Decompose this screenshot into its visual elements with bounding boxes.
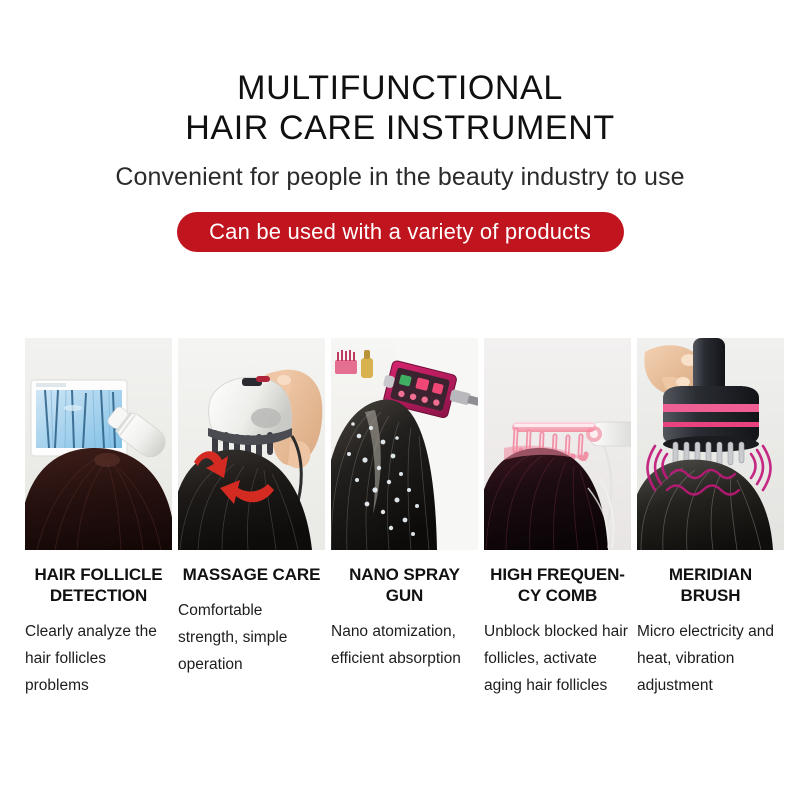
feature-description-nano-spray-gun: Nano atomization, efficient absorption	[331, 618, 478, 672]
feature-photo-meridian-brush	[637, 338, 784, 550]
feature-description-massage-care: Comfortable strength, simple operation	[178, 597, 325, 678]
feature-description-high-frequency-comb: Unblock blocked hair follicles, activate…	[484, 618, 631, 699]
feature-photo-high-frequency-comb	[484, 338, 631, 550]
feature-card-hair-follicle-detection: HAIR FOLLICLE DETECTION Clearly analyze …	[25, 338, 172, 699]
feature-card-nano-spray-gun: NANO SPRAY GUN Nano atomization, efficie…	[331, 338, 478, 699]
feature-title-meridian-brush: MERIDIAN BRUSH	[637, 564, 784, 606]
header: MULTIFUNCTIONAL HAIR CARE INSTRUMENT Con…	[0, 0, 800, 252]
compatibility-badge: Can be used with a variety of products	[177, 212, 624, 252]
feature-description-hair-follicle-detection: Clearly analyze the hair follicles probl…	[25, 618, 172, 699]
badge-row: Can be used with a variety of products	[0, 212, 800, 252]
page-subtitle: Convenient for people in the beauty indu…	[0, 162, 800, 192]
feature-title-massage-care: MASSAGE CARE	[178, 564, 325, 585]
feature-photo-nano-spray-gun	[331, 338, 478, 550]
feature-card-high-frequency-comb: HIGH FREQUEN- CY COMB Unblock blocked ha…	[484, 338, 631, 699]
feature-description-meridian-brush: Micro electricity and heat, vibration ad…	[637, 618, 784, 699]
feature-grid: HAIR FOLLICLE DETECTION Clearly analyze …	[25, 338, 775, 699]
feature-photo-massage-care	[178, 338, 325, 550]
feature-photo-hair-follicle-detection	[25, 338, 172, 550]
feature-title-nano-spray-gun: NANO SPRAY GUN	[331, 564, 478, 606]
page-title-line-1: MULTIFUNCTIONAL	[0, 68, 800, 108]
feature-card-massage-care: MASSAGE CARE Comfortable strength, simpl…	[178, 338, 325, 699]
feature-card-meridian-brush: MERIDIAN BRUSH Micro electricity and hea…	[637, 338, 784, 699]
feature-title-hair-follicle-detection: HAIR FOLLICLE DETECTION	[25, 564, 172, 606]
page-title-line-2: HAIR CARE INSTRUMENT	[0, 108, 800, 148]
feature-title-high-frequency-comb: HIGH FREQUEN- CY COMB	[484, 564, 631, 606]
